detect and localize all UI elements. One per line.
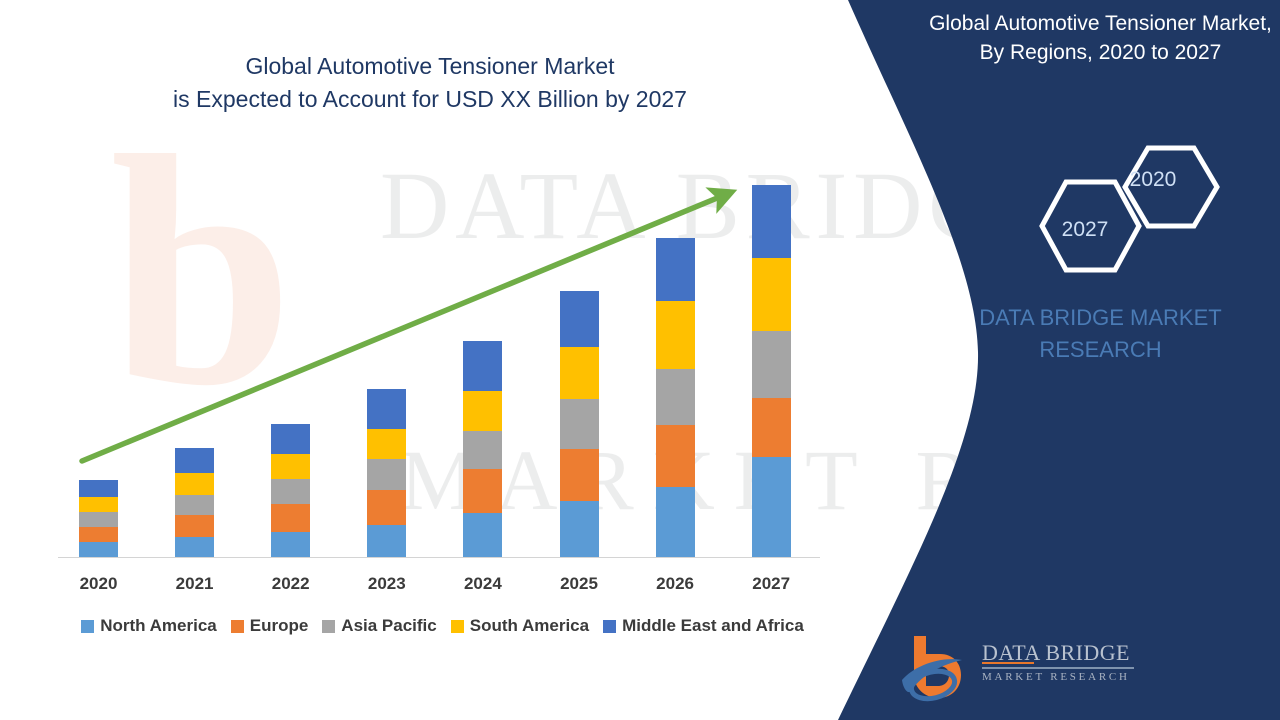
- plot-area: 20202021202220232024202520262027: [0, 0, 860, 620]
- logo-divider-accent: [982, 662, 1034, 664]
- slide-canvas: b DATA BRIDGE MARKET RESEARCH Global Aut…: [0, 0, 1280, 720]
- legend-label: North America: [100, 616, 217, 636]
- legend-swatch-icon: [231, 620, 244, 633]
- legend-swatch-icon: [322, 620, 335, 633]
- x-axis-labels: 20202021202220232024202520262027: [0, 574, 860, 600]
- hexagon-label-2020: 2020: [1108, 168, 1198, 192]
- x-axis-label-2026: 2026: [635, 574, 715, 594]
- hexagon-label-2027: 2027: [1040, 218, 1130, 242]
- legend-item-south-america[interactable]: South America: [451, 616, 589, 636]
- x-axis-label-2024: 2024: [443, 574, 523, 594]
- logo-text-bottom: MARKET RESEARCH: [982, 672, 1142, 683]
- hexagon-shapes: [980, 140, 1260, 275]
- legend-swatch-icon: [451, 620, 464, 633]
- legend-item-middle-east-and-africa[interactable]: Middle East and Africa: [603, 616, 804, 636]
- company-logo: DATA BRIDGE MARKET RESEARCH: [900, 628, 1140, 706]
- brand-name: DATA BRIDGE MARKET RESEARCH: [928, 302, 1273, 366]
- panel-title: Global Automotive Tensioner Market, By R…: [928, 10, 1273, 68]
- x-axis-label-2021: 2021: [155, 574, 235, 594]
- x-axis-label-2020: 2020: [59, 574, 139, 594]
- brand-name-line-1: DATA BRIDGE MARKET: [928, 302, 1273, 334]
- legend-swatch-icon: [603, 620, 616, 633]
- legend-item-north-america[interactable]: North America: [81, 616, 217, 636]
- x-axis-label-2023: 2023: [347, 574, 427, 594]
- logo-divider: [982, 667, 1134, 669]
- legend-label: South America: [470, 616, 589, 636]
- legend-item-europe[interactable]: Europe: [231, 616, 309, 636]
- chart-legend: North AmericaEuropeAsia PacificSouth Ame…: [55, 616, 830, 636]
- x-axis-label-2022: 2022: [251, 574, 331, 594]
- legend-item-asia-pacific[interactable]: Asia Pacific: [322, 616, 436, 636]
- logo-text-top: DATA BRIDGE: [982, 642, 1142, 664]
- hexagon-group: 2020 2027: [980, 140, 1260, 275]
- logo-wordmark: DATA BRIDGE MARKET RESEARCH: [982, 642, 1142, 683]
- legend-label: Middle East and Africa: [622, 616, 804, 636]
- x-axis-label-2027: 2027: [731, 574, 811, 594]
- brand-name-line-2: RESEARCH: [928, 334, 1273, 366]
- x-axis-label-2025: 2025: [539, 574, 619, 594]
- legend-label: Europe: [250, 616, 309, 636]
- right-panel: Global Automotive Tensioner Market, By R…: [920, 0, 1280, 720]
- legend-swatch-icon: [81, 620, 94, 633]
- growth-arrow: [0, 0, 860, 620]
- logo-mark-icon: [900, 630, 978, 702]
- legend-label: Asia Pacific: [341, 616, 436, 636]
